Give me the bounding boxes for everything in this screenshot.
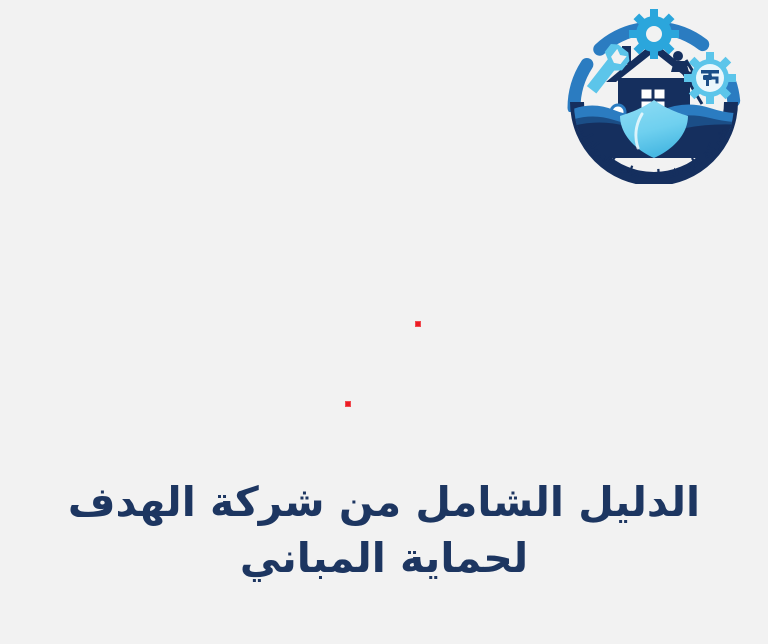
page-root: شركة الهدف لخدمات العوازل الدليل الشامل … — [0, 0, 768, 644]
page-title: الدليل الشامل من شركة الهدف لحماية المبا… — [0, 475, 768, 586]
page-title-line-2: لحماية المباني — [28, 531, 740, 586]
company-logo: شركة الهدف لخدمات العوازل — [556, 8, 752, 184]
faucet-gear-icon — [684, 52, 736, 104]
broken-image-marker-1 — [415, 321, 421, 327]
page-title-line-1: الدليل الشامل من شركة الهدف — [28, 475, 740, 530]
broken-image-marker-2 — [345, 401, 351, 407]
top-gear-icon — [629, 9, 679, 59]
